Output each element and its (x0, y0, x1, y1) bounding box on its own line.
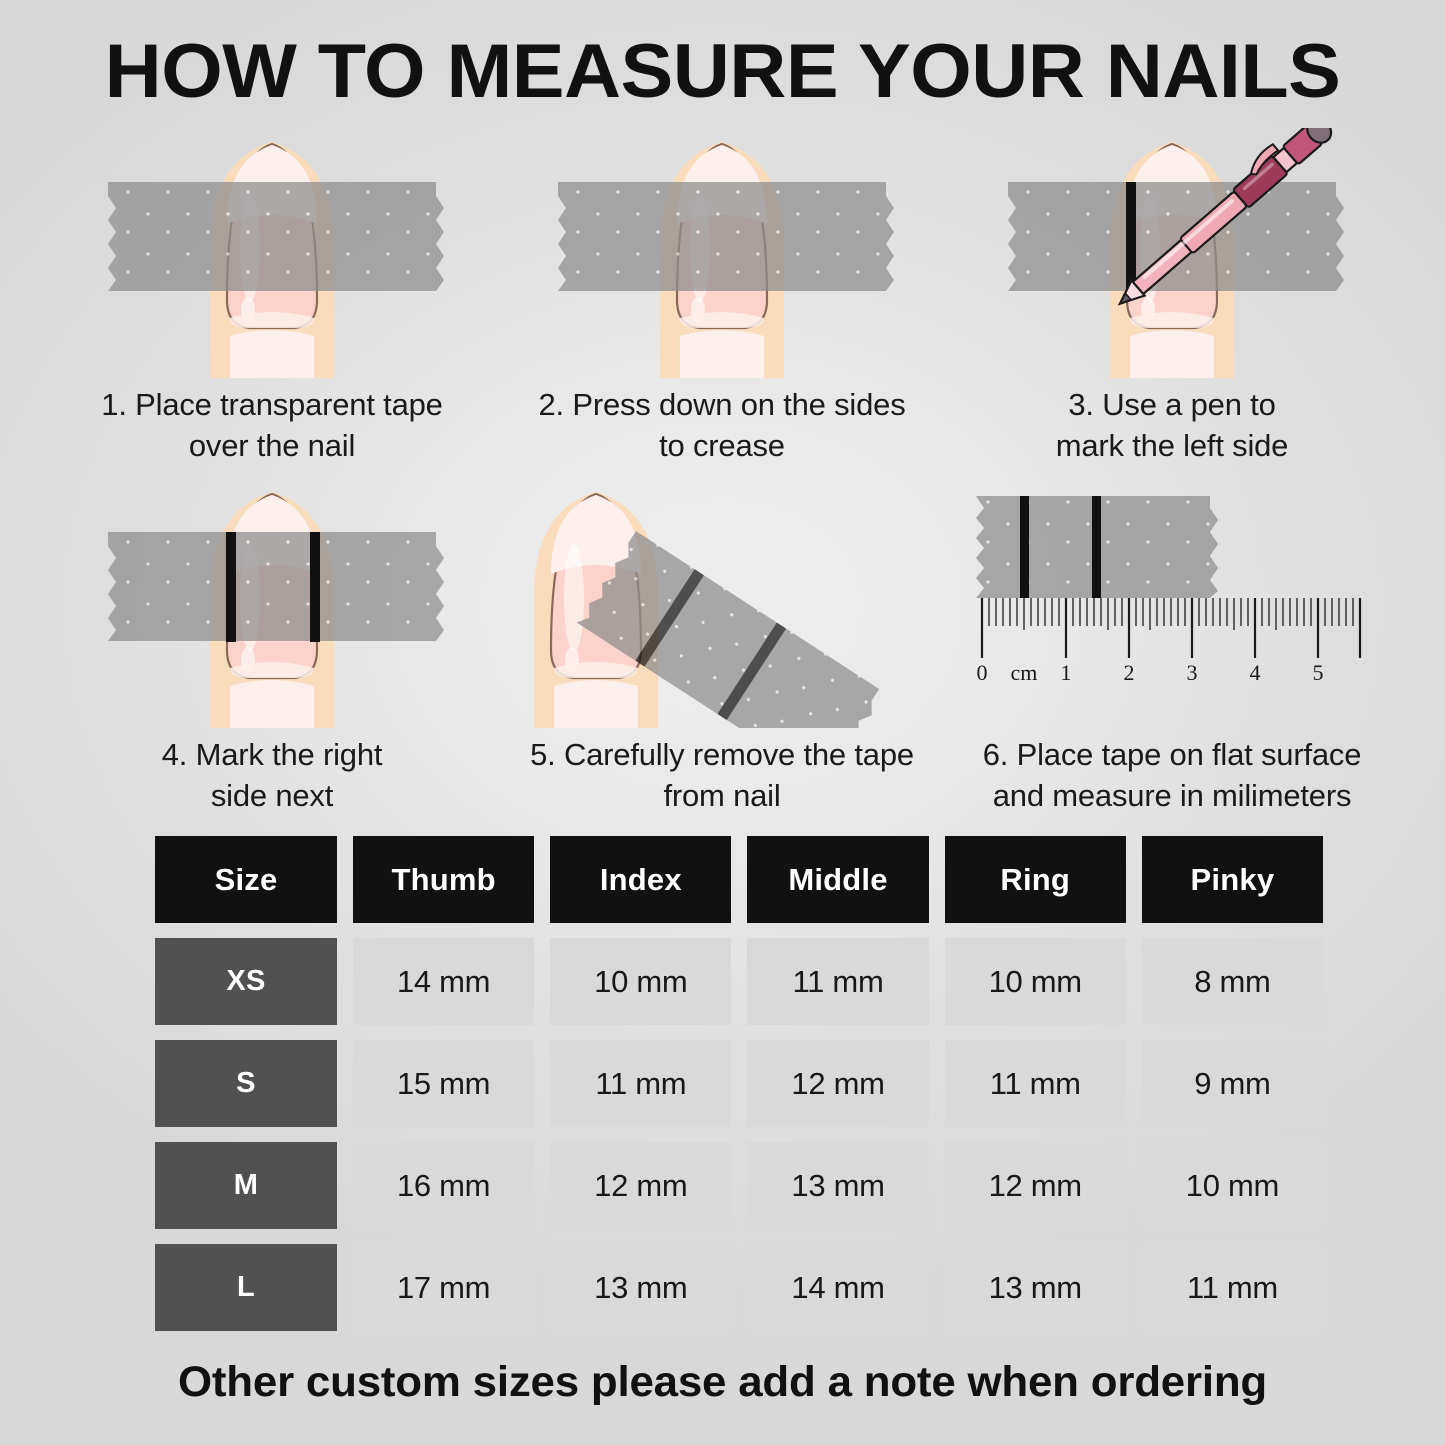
header-thumb: Thumb (353, 836, 534, 923)
step-5: 5. Carefully remove the tape from nail (512, 478, 932, 816)
step-1-illustration (62, 128, 482, 378)
step-3-caption: 3. Use a pen to mark the left side (962, 384, 1382, 466)
step-4: 4. Mark the right side next (62, 478, 482, 816)
cell-thumb: 17 mm (353, 1244, 534, 1331)
finger-pen-mark-left-diagram (962, 128, 1382, 378)
header-middle: Middle (747, 836, 928, 923)
cell-index: 13 mm (550, 1244, 731, 1331)
ruler-tick-4: 4 (1250, 660, 1261, 685)
cell-thumb: 14 mm (353, 938, 534, 1025)
step-1-caption: 1. Place transparent tape over the nail (62, 384, 482, 466)
step-3-caption-line1: 3. Use a pen to (962, 384, 1382, 425)
step-2-caption: 2. Press down on the sides to crease (512, 384, 932, 466)
cell-middle: 13 mm (747, 1142, 928, 1229)
tape-mark-left (1020, 496, 1029, 598)
ruler-labels: 0 cm 1 2 3 4 5 (977, 660, 1324, 685)
step-2-caption-line1: 2. Press down on the sides (512, 384, 932, 425)
step-4-caption-line2: side next (62, 775, 482, 816)
infographic-page: HOW TO MEASURE YOUR NAILS (0, 0, 1445, 1445)
step-4-caption-line1: 4. Mark the right (62, 734, 482, 775)
ruler-tick-2: 2 (1124, 660, 1135, 685)
tape-strip (1008, 182, 1344, 291)
ruler-unit-label: cm (1011, 660, 1038, 685)
step-3-illustration (962, 128, 1382, 378)
step-5-caption-line1: 5. Carefully remove the tape (512, 734, 932, 775)
cell-index: 10 mm (550, 938, 731, 1025)
cell-middle: 14 mm (747, 1244, 928, 1331)
tape-mark-right (1092, 496, 1101, 598)
step-4-caption: 4. Mark the right side next (62, 734, 482, 816)
header-ring: Ring (945, 836, 1126, 923)
step-6-caption-line2: and measure in milimeters (962, 775, 1382, 816)
tape-removed-from-nail-diagram (512, 478, 932, 728)
footer-note: Other custom sizes please add a note whe… (0, 1358, 1445, 1407)
cell-size: S (155, 1040, 337, 1127)
ruler-tick-0: 0 (977, 660, 988, 685)
ruler (982, 598, 1360, 658)
ruler-tick-3: 3 (1187, 660, 1198, 685)
cell-index: 12 mm (550, 1142, 731, 1229)
step-2-caption-line2: to crease (512, 425, 932, 466)
step-6: 0 cm 1 2 3 4 5 6. Place tape on flat sur… (962, 478, 1382, 816)
pen-mark-left (226, 532, 236, 642)
step-3: 3. Use a pen to mark the left side (962, 128, 1382, 466)
page-title: HOW TO MEASURE YOUR NAILS (0, 28, 1445, 115)
table-header-row: Size Thumb Index Middle Ring Pinky (155, 836, 1323, 923)
table-row: M 16 mm 12 mm 13 mm 12 mm 10 mm (155, 1142, 1323, 1229)
cell-pinky: 11 mm (1142, 1244, 1323, 1331)
tape-strip (108, 532, 444, 641)
table-row: L 17 mm 13 mm 14 mm 13 mm 11 mm (155, 1244, 1323, 1331)
finger-both-marks-diagram (62, 478, 482, 728)
step-4-illustration (62, 478, 482, 728)
header-index: Index (550, 836, 731, 923)
table-row: S 15 mm 11 mm 12 mm 11 mm 9 mm (155, 1040, 1323, 1127)
cell-pinky: 9 mm (1142, 1040, 1323, 1127)
cell-thumb: 16 mm (353, 1142, 534, 1229)
cell-ring: 11 mm (945, 1040, 1126, 1127)
cell-ring: 12 mm (945, 1142, 1126, 1229)
cell-middle: 12 mm (747, 1040, 928, 1127)
header-pinky: Pinky (1142, 836, 1323, 923)
step-5-illustration (512, 478, 932, 728)
cell-size: M (155, 1142, 337, 1229)
header-size: Size (155, 836, 337, 923)
step-1-caption-line2: over the nail (62, 425, 482, 466)
tape-strip (108, 182, 444, 291)
step-5-caption: 5. Carefully remove the tape from nail (512, 734, 932, 816)
step-2: 2. Press down on the sides to crease (512, 128, 932, 466)
finger-tape-pressed-diagram (512, 128, 932, 378)
cell-pinky: 8 mm (1142, 938, 1323, 1025)
step-1-caption-line1: 1. Place transparent tape (62, 384, 482, 425)
cell-thumb: 15 mm (353, 1040, 534, 1127)
pen-mark-right (310, 532, 320, 642)
cell-index: 11 mm (550, 1040, 731, 1127)
step-5-caption-line2: from nail (512, 775, 932, 816)
tape-strip (558, 182, 894, 291)
size-chart-table: Size Thumb Index Middle Ring Pinky XS 14… (155, 836, 1323, 1346)
step-6-caption: 6. Place tape on flat surface and measur… (962, 734, 1382, 816)
cell-middle: 11 mm (747, 938, 928, 1025)
step-3-caption-line2: mark the left side (962, 425, 1382, 466)
step-2-illustration (512, 128, 932, 378)
cell-ring: 13 mm (945, 1244, 1126, 1331)
cell-ring: 10 mm (945, 938, 1126, 1025)
ruler-tick-1: 1 (1061, 660, 1072, 685)
step-1: 1. Place transparent tape over the nail (62, 128, 482, 466)
table-row: XS 14 mm 10 mm 11 mm 10 mm 8 mm (155, 938, 1323, 1025)
tape-on-ruler-diagram: 0 cm 1 2 3 4 5 (962, 478, 1382, 728)
step-6-caption-line1: 6. Place tape on flat surface (962, 734, 1382, 775)
cell-size: XS (155, 938, 337, 1025)
step-6-illustration: 0 cm 1 2 3 4 5 (962, 478, 1382, 728)
finger-with-tape-diagram (62, 128, 482, 378)
ruler-tick-5: 5 (1313, 660, 1324, 685)
cell-pinky: 10 mm (1142, 1142, 1323, 1229)
pen-mark-left (1126, 182, 1136, 292)
cell-size: L (155, 1244, 337, 1331)
